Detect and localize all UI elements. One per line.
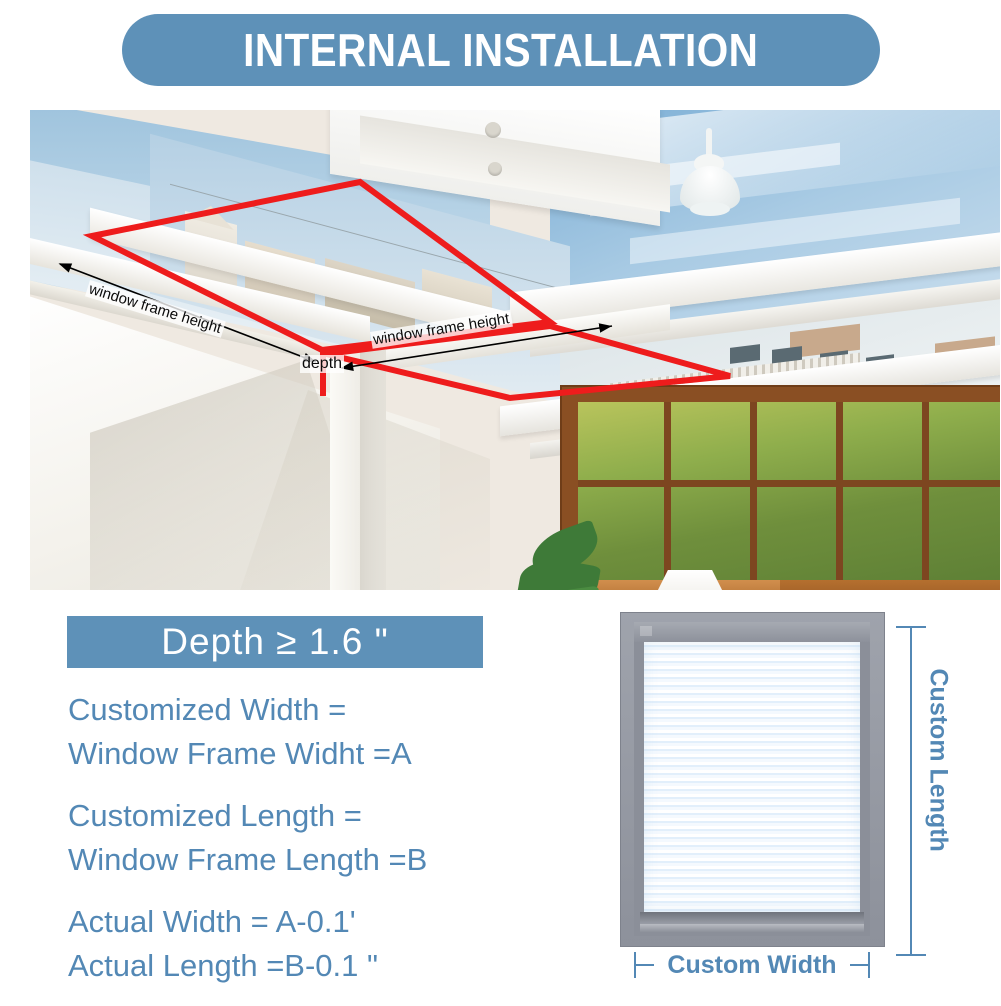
blind-headrail <box>634 622 870 642</box>
spec-line: Actual Width = A-0.1' <box>68 900 568 944</box>
label-custom-length: Custom Length <box>922 669 955 809</box>
spec-group-length: Customized Length = Window Frame Length … <box>68 794 568 882</box>
blind-dimension-diagram: Custom Length Custom Width <box>620 612 1000 992</box>
installation-photo: window frame height window frame height … <box>30 110 1000 590</box>
blind-bottom-rail <box>640 912 864 924</box>
dimension-line-length <box>910 626 912 956</box>
dimension-cap-length-bottom <box>896 954 926 956</box>
spec-group-actual: Actual Width = A-0.1' Actual Length =B-0… <box>68 900 568 988</box>
dimension-cap-width-left <box>634 952 636 978</box>
blind-cellular-fabric <box>644 642 860 912</box>
page-title: INTERNAL INSTALLATION <box>243 23 758 77</box>
blind-bottom-rail-lower <box>640 924 864 932</box>
depth-requirement-text: Depth ≥ 1.6 " <box>161 621 388 663</box>
blind-corner-highlight <box>640 626 652 636</box>
label-custom-width: Custom Width <box>654 951 850 980</box>
spec-line: Window Frame Length =B <box>68 838 568 882</box>
depth-requirement-banner: Depth ≥ 1.6 " <box>67 616 483 668</box>
page-title-banner: INTERNAL INSTALLATION <box>122 14 880 86</box>
spec-line: Window Frame Widht =A <box>68 732 568 776</box>
spec-line: Customized Length = <box>68 794 568 838</box>
measurement-annotation-overlay <box>30 110 1000 590</box>
dimension-cap-width-right <box>868 952 870 978</box>
spec-line: Actual Length =B-0.1 " <box>68 944 568 988</box>
measurement-spec-list: Customized Width = Window Frame Widht =A… <box>68 688 568 1006</box>
label-depth: depth <box>300 355 344 373</box>
dimension-cap-length-top <box>896 626 926 628</box>
spec-line: Customized Width = <box>68 688 568 732</box>
spec-group-width: Customized Width = Window Frame Widht =A <box>68 688 568 776</box>
